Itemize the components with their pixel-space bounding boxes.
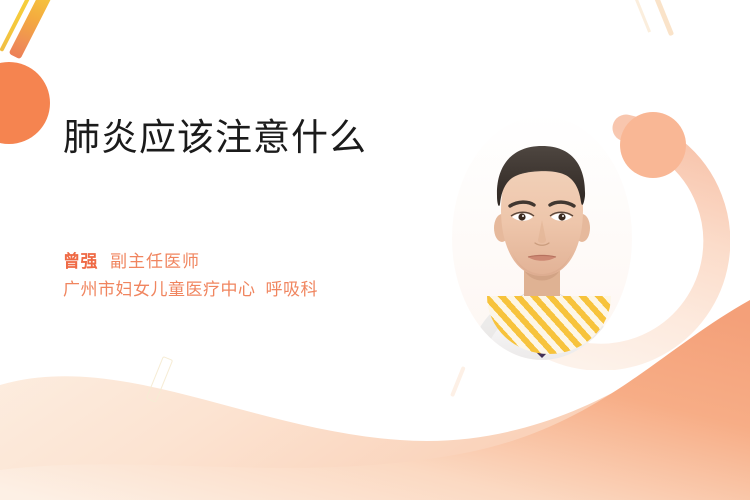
video-cover-card: 肺炎应该注意什么 曾强副主任医师 广州市妇女儿童医疗中心呼吸科: [0, 0, 750, 500]
doctor-hospital: 广州市妇女儿童医疗中心: [63, 280, 256, 299]
doctor-name-row: 曾强副主任医师: [63, 248, 318, 276]
page-title: 肺炎应该注意什么: [63, 116, 463, 160]
slash-faint-bottom-mid-icon: [450, 366, 466, 397]
stripes-under-portrait-icon: [487, 296, 612, 374]
doctor-rank: 副主任医师: [110, 252, 200, 271]
circle-orange-left-icon: [0, 62, 50, 144]
slash-hollow-bottom-left-icon: [146, 356, 173, 403]
doctor-info-block: 曾强副主任医师 广州市妇女儿童医疗中心呼吸科: [63, 248, 318, 304]
doctor-name: 曾强: [63, 252, 98, 271]
slash-orange-top-left-icon: [9, 0, 56, 59]
slash-yellow-top-left-icon: [0, 0, 36, 52]
slash-faint-top-right-a-icon: [631, 0, 651, 33]
title-block: 肺炎应该注意什么: [63, 116, 463, 160]
doctor-affiliation-row: 广州市妇女儿童医疗中心呼吸科: [63, 276, 318, 304]
slash-faint-top-right-b-icon: [650, 0, 674, 36]
doctor-department: 呼吸科: [266, 280, 319, 299]
